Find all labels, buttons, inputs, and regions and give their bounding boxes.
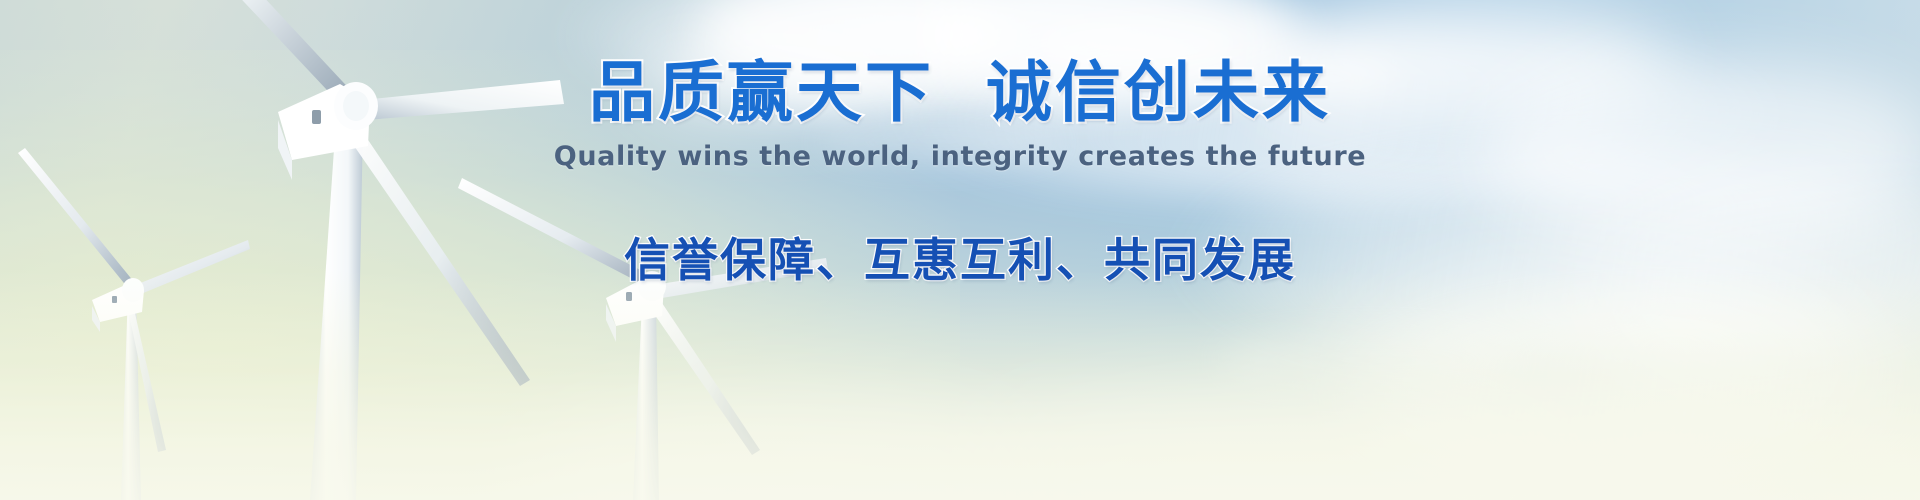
promo-banner: 品质赢天下 诚信创未来 Quality wins the world, inte… xyxy=(0,0,1920,500)
horizon-haze xyxy=(0,270,1920,500)
